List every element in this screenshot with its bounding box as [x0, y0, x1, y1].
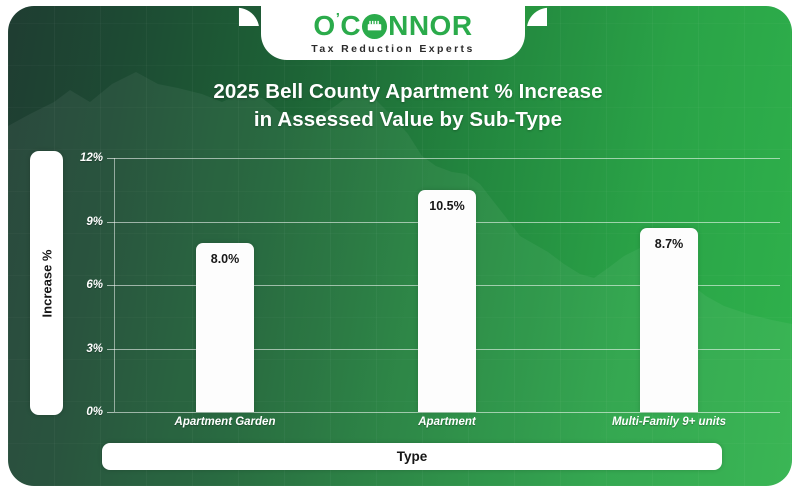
y-axis-title: Increase %	[39, 249, 54, 317]
gridline	[114, 158, 780, 159]
x-axis-title-box: Type	[102, 443, 722, 470]
y-tick-mark	[107, 285, 114, 286]
plot-area: 0%3%6%9%12%8.0%Apartment Garden10.5%Apar…	[114, 158, 780, 412]
gridline	[114, 412, 780, 413]
bar-value-label: 8.7%	[640, 237, 698, 251]
y-axis-title-box: Increase %	[30, 151, 63, 415]
chart-card: O’C NNOR Tax Reduction Experts 2025 Bell…	[8, 6, 792, 486]
brand-apostrophe: ’	[336, 11, 341, 26]
y-tick-label: 9%	[86, 216, 103, 228]
brand-letter-o: O	[313, 12, 335, 40]
chart-title-line-1: 2025 Bell County Apartment % Increase	[148, 78, 668, 106]
brand-wordmark: O’C NNOR	[313, 12, 472, 40]
brand-tagline: Tax Reduction Experts	[311, 43, 474, 55]
y-tick-label: 0%	[86, 406, 103, 418]
brand-letter-c: C	[340, 12, 361, 40]
bar-value-label: 8.0%	[196, 252, 254, 266]
y-tick-mark	[107, 158, 114, 159]
x-category-label: Apartment	[418, 416, 476, 428]
chart-title-line-2: in Assessed Value by Sub-Type	[148, 106, 668, 134]
bar[interactable]: 8.7%	[640, 228, 698, 412]
brand-letters-nnor: NNOR	[388, 12, 472, 40]
y-tick-label: 3%	[86, 343, 103, 355]
x-axis-title: Type	[397, 449, 428, 464]
chart-title: 2025 Bell County Apartment % Increase in…	[148, 78, 668, 133]
brand-logo: O’C NNOR Tax Reduction Experts	[261, 8, 525, 58]
x-category-label: Apartment Garden	[175, 416, 276, 428]
y-tick-mark	[107, 412, 114, 413]
y-tick-mark	[107, 349, 114, 350]
bar[interactable]: 8.0%	[196, 243, 254, 412]
y-tick-mark	[107, 222, 114, 223]
bar[interactable]: 10.5%	[418, 190, 476, 412]
bar-value-label: 10.5%	[418, 199, 476, 213]
y-tick-label: 12%	[80, 152, 103, 164]
x-category-label: Multi-Family 9+ units	[612, 416, 726, 428]
chart-infographic: O’C NNOR Tax Reduction Experts 2025 Bell…	[0, 0, 800, 492]
building-in-circle-icon	[361, 13, 388, 40]
y-tick-label: 6%	[86, 279, 103, 291]
